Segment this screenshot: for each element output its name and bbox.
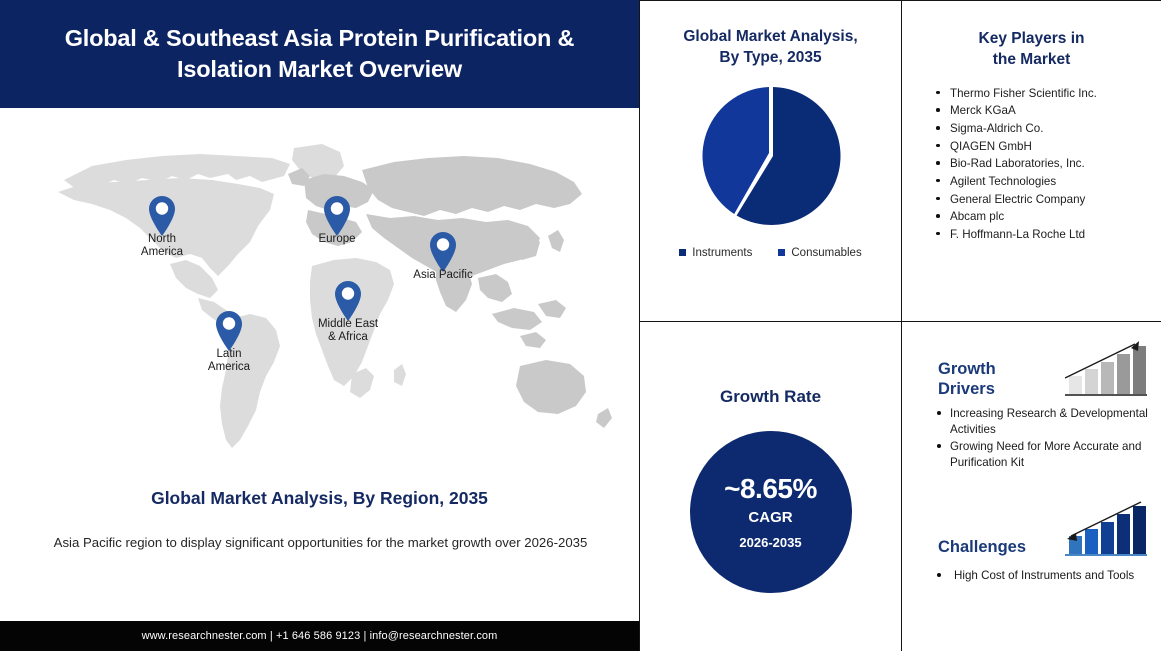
growth-drivers-header: GrowthDrivers xyxy=(902,338,1161,400)
list-item: General Electric Company xyxy=(936,191,1151,209)
location-pin-icon xyxy=(214,310,244,352)
list-item: Thermo Fisher Scientific Inc. xyxy=(936,85,1151,103)
legend-swatch-icon xyxy=(778,249,785,256)
list-item: Growing Need for More Accurate and Purif… xyxy=(936,439,1153,470)
pie-panel-title: Global Market Analysis,By Type, 2035 xyxy=(640,27,901,69)
pie-chart-graphic xyxy=(696,81,846,231)
cagr-label: CAGR xyxy=(748,509,792,526)
footer-contact-text: www.researchnester.com | +1 646 586 9123… xyxy=(142,630,498,642)
list-item: QIAGEN GmbH xyxy=(936,138,1151,156)
footer-bar: www.researchnester.com | +1 646 586 9123… xyxy=(0,621,639,651)
panel-drivers-challenges: GrowthDrivers Increasing Research & Deve… xyxy=(901,321,1161,651)
panel-market-by-type: Global Market Analysis,By Type, 2035 Ins… xyxy=(640,0,902,322)
challenges-header: Challenges xyxy=(902,498,1161,560)
list-item: High Cost of Instruments and Tools xyxy=(936,568,1153,584)
map-pin-label: NorthAmerica xyxy=(141,233,183,259)
region-analysis-subtitle: Asia Pacific region to display significa… xyxy=(48,533,593,553)
ascending-bar-chart-down-arrow-icon xyxy=(1065,498,1147,560)
legend-item-consumables[interactable]: Consumables xyxy=(778,247,861,259)
list-item: Agilent Technologies xyxy=(936,173,1151,191)
pie-legend: Instruments Consumables xyxy=(640,247,901,259)
cagr-value: ~8.65% xyxy=(724,473,817,505)
location-pin-icon xyxy=(322,195,352,237)
legend-swatch-icon xyxy=(679,249,686,256)
challenges-list: High Cost of Instruments and Tools xyxy=(902,568,1161,584)
location-pin-icon xyxy=(333,280,363,322)
map-pin-label: LatinAmerica xyxy=(208,348,250,374)
list-item: Increasing Research & Developmental Acti… xyxy=(936,406,1153,437)
list-item: Merck KGaA xyxy=(936,102,1151,120)
growth-drivers-list: Increasing Research & Developmental Acti… xyxy=(902,406,1161,470)
map-pin-north-america[interactable]: NorthAmerica xyxy=(147,195,177,237)
list-item: Sigma-Aldrich Co. xyxy=(936,120,1151,138)
region-analysis-title: Global Market Analysis, By Region, 2035 xyxy=(0,488,639,509)
legend-label: Instruments xyxy=(692,247,752,259)
right-panel-grid: Global Market Analysis,By Type, 2035 Ins… xyxy=(640,0,1161,651)
map-pin-label: Asia Pacific xyxy=(413,269,472,282)
map-pin-middle-east-africa[interactable]: Middle East& Africa xyxy=(333,280,363,322)
map-pin-europe[interactable]: Europe xyxy=(322,195,352,237)
pie-chart xyxy=(696,81,846,231)
page-title: Global & Southeast Asia Protein Purifica… xyxy=(0,23,639,86)
list-item: Bio-Rad Laboratories, Inc. xyxy=(936,155,1151,173)
location-pin-icon xyxy=(428,231,458,273)
list-item: Abcam plc xyxy=(936,208,1151,226)
legend-label: Consumables xyxy=(791,247,861,259)
key-players-list: Thermo Fisher Scientific Inc. Merck KGaA… xyxy=(902,85,1161,243)
growth-drivers-title: GrowthDrivers xyxy=(938,360,996,400)
world-map: NorthAmerica Europe Asia Pacific xyxy=(0,110,639,470)
location-pin-icon xyxy=(147,195,177,237)
panel-growth-rate: Growth Rate ~8.65% CAGR 2026-2035 xyxy=(640,321,902,651)
map-pin-label: Middle East& Africa xyxy=(318,318,378,344)
cagr-period: 2026-2035 xyxy=(739,535,801,550)
world-map-graphic xyxy=(22,118,622,463)
growth-rate-title: Growth Rate xyxy=(640,386,901,409)
infographic-root: Global & Southeast Asia Protein Purifica… xyxy=(0,0,1161,651)
left-panel: Global & Southeast Asia Protein Purifica… xyxy=(0,0,640,651)
map-pin-label: Europe xyxy=(318,233,355,246)
list-item: F. Hoffmann-La Roche Ltd xyxy=(936,226,1151,244)
map-pin-asia-pacific[interactable]: Asia Pacific xyxy=(428,231,458,273)
map-pin-latin-america[interactable]: LatinAmerica xyxy=(214,310,244,352)
ascending-bar-chart-up-arrow-icon xyxy=(1065,338,1147,400)
panel-key-players: Key Players inthe Market Thermo Fisher S… xyxy=(901,0,1161,322)
legend-item-instruments[interactable]: Instruments xyxy=(679,247,752,259)
challenges-title: Challenges xyxy=(938,538,1026,560)
growth-rate-badge: ~8.65% CAGR 2026-2035 xyxy=(690,431,852,593)
title-bar: Global & Southeast Asia Protein Purifica… xyxy=(0,0,639,108)
key-players-title: Key Players inthe Market xyxy=(902,29,1161,71)
